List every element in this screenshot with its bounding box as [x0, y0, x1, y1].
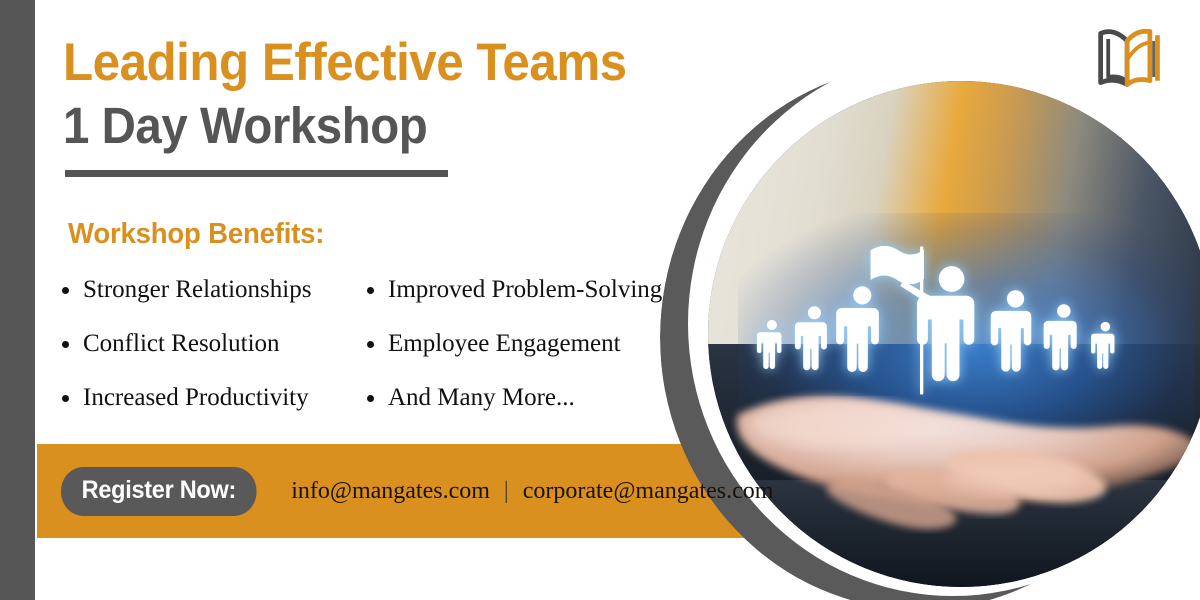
- mangates-logo: [1087, 22, 1173, 94]
- benefit-item: And Many More...: [367, 384, 717, 438]
- benefits-column-left: Stronger Relationships Conflict Resoluti…: [62, 276, 362, 438]
- open-hand-photo: [718, 364, 1200, 587]
- hero-photo-circle: [708, 81, 1200, 587]
- bullet-icon: [62, 287, 69, 294]
- benefits-heading: Workshop Benefits:: [68, 218, 324, 251]
- email-separator: |: [504, 478, 509, 505]
- benefit-item: Stronger Relationships: [62, 276, 362, 330]
- email-primary-link[interactable]: info@mangates.com: [291, 478, 490, 505]
- flyer-canvas: Leading Effective Teams 1 Day Workshop W…: [0, 0, 1200, 600]
- benefit-label: Stronger Relationships: [83, 276, 311, 304]
- benefit-label: Employee Engagement: [388, 330, 621, 358]
- benefit-label: Improved Problem-Solving: [388, 276, 662, 304]
- bullet-icon: [367, 287, 374, 294]
- page-title-secondary: 1 Day Workshop: [63, 98, 677, 154]
- bullet-icon: [62, 395, 69, 402]
- bullet-icon: [367, 341, 374, 348]
- register-cta-bar: Register Now: info@mangates.com | corpor…: [37, 444, 753, 538]
- register-now-button[interactable]: Register Now:: [61, 467, 257, 516]
- benefit-item: Conflict Resolution: [62, 330, 362, 384]
- bullet-icon: [367, 395, 374, 402]
- benefit-label: And Many More...: [388, 384, 575, 412]
- benefit-label: Increased Productivity: [83, 384, 309, 412]
- email-secondary-link[interactable]: corporate@mangates.com: [523, 478, 774, 505]
- contact-emails: info@mangates.com | corporate@mangates.c…: [291, 478, 773, 505]
- hero-image-group: [660, 55, 1200, 600]
- headline-block: Leading Effective Teams 1 Day Workshop: [63, 34, 723, 154]
- bullet-icon: [62, 341, 69, 348]
- benefit-label: Conflict Resolution: [83, 330, 280, 358]
- left-accent-strip: [0, 0, 35, 600]
- title-underline-rule: [65, 170, 448, 177]
- benefits-columns: Stronger Relationships Conflict Resoluti…: [62, 276, 722, 438]
- page-title-primary: Leading Effective Teams: [63, 34, 677, 92]
- benefit-item: Increased Productivity: [62, 384, 362, 438]
